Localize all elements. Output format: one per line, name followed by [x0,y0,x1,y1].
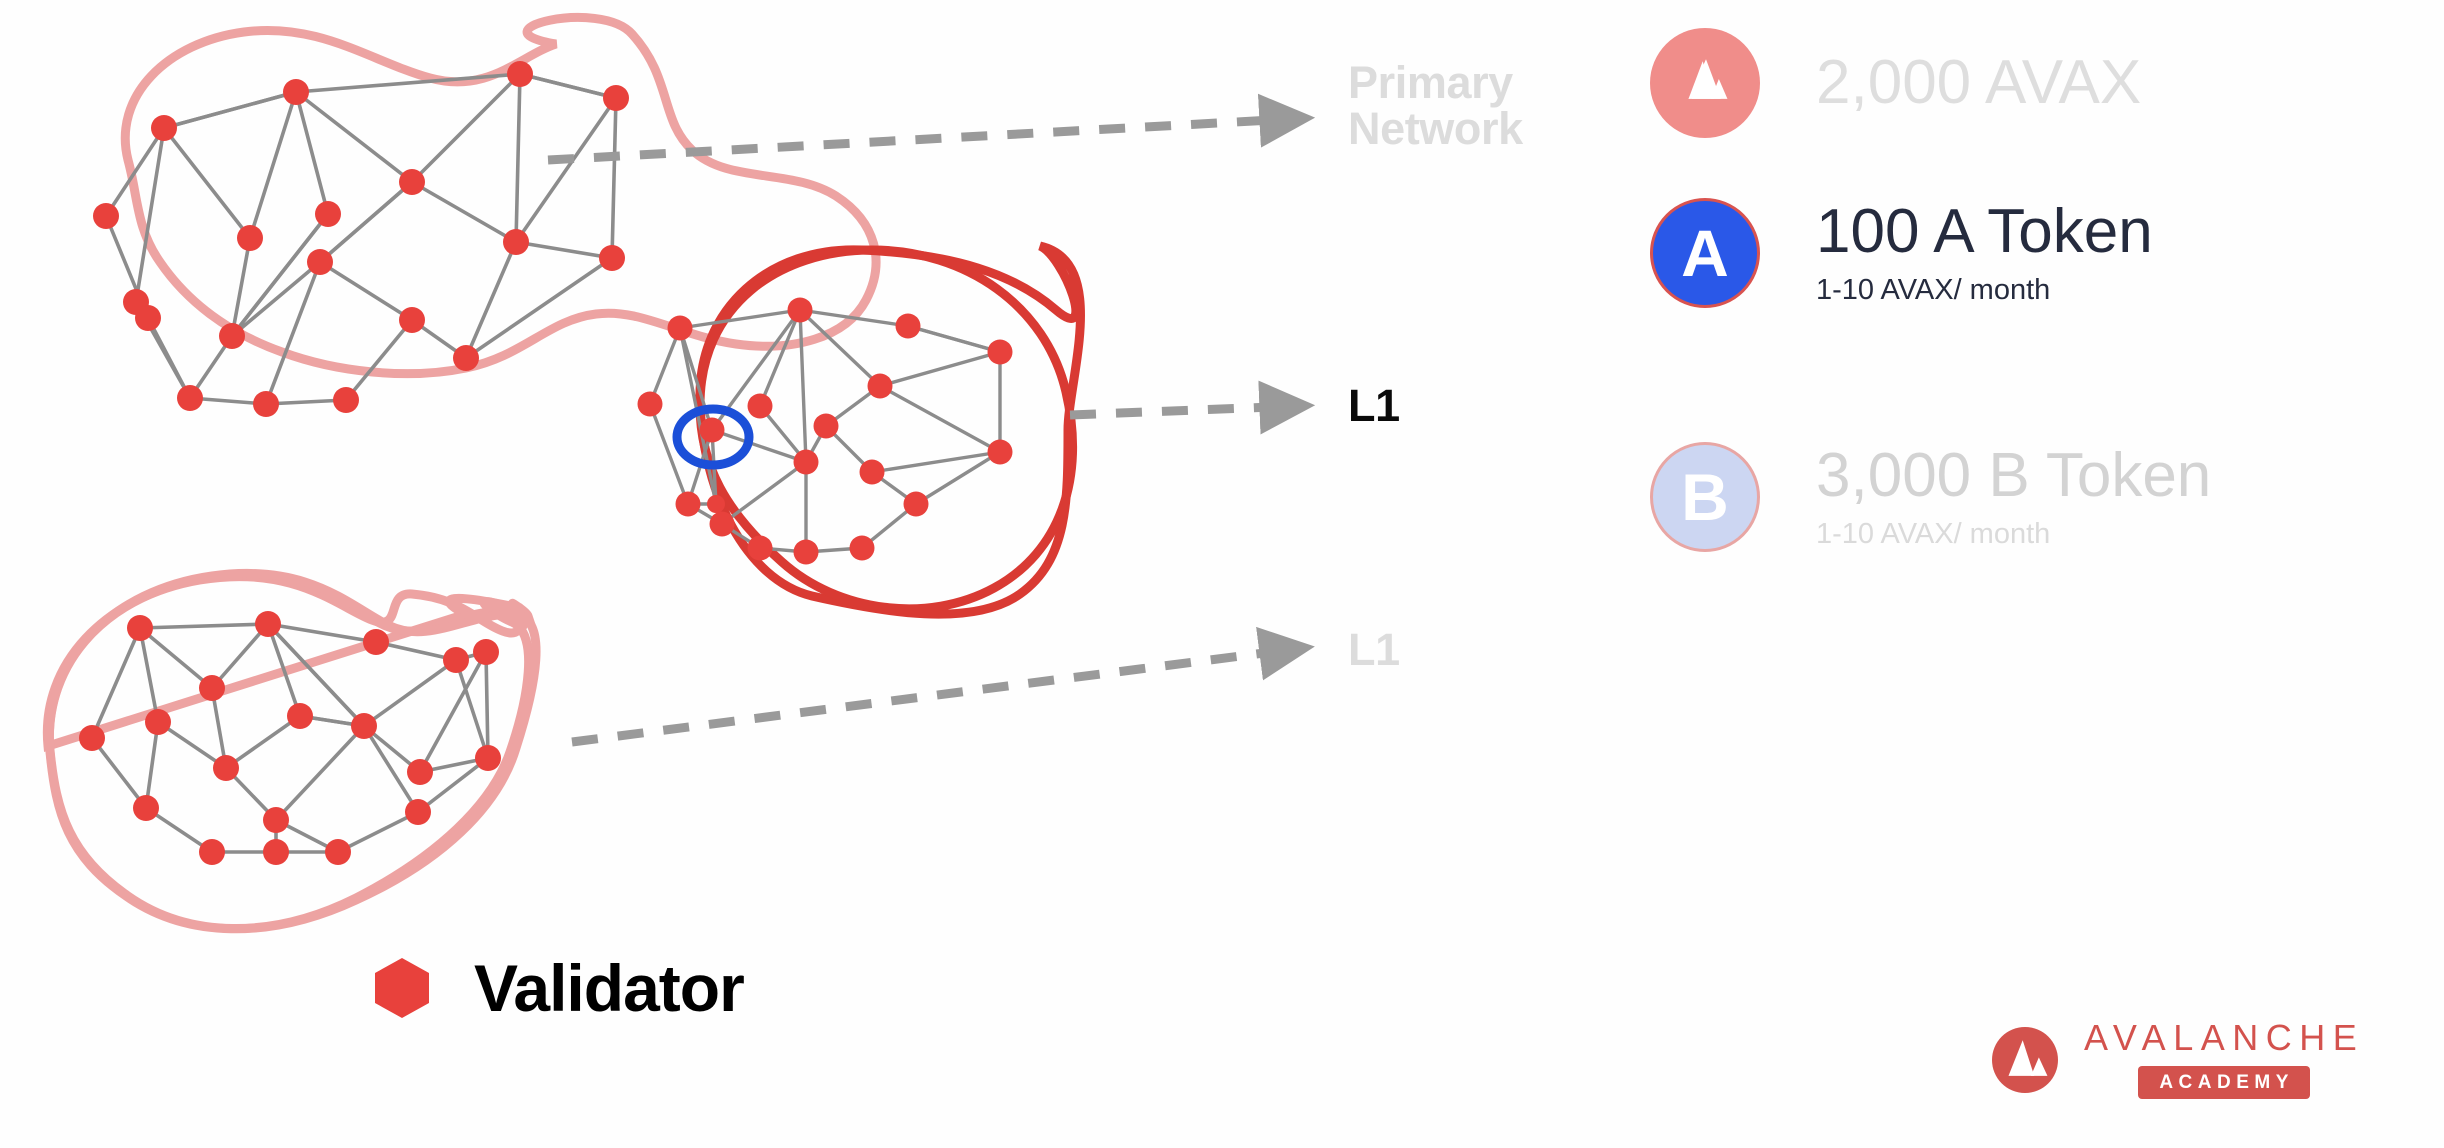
token-amount-b: 3,000 B Token [1816,443,2211,509]
diagram-canvas: Primary Network L1 L1 2,000 AVAX A 100 A… [0,0,2444,1148]
l1-a-cluster [638,246,1081,614]
primary-network-edges [106,74,616,404]
academy-badge: ACADEMY [2138,1066,2310,1099]
avalanche-logo-icon [1992,1027,2058,1093]
arrow-l1-b [572,652,1272,742]
legend-validator-label: Validator [474,955,744,1021]
arrow-l1-a [1070,407,1272,415]
token-text-b: 3,000 B Token 1-10 AVAX/ month [1816,443,2211,551]
avalanche-mountain-icon [1672,50,1738,116]
avalanche-brand-name: AVALANCHE [2084,1020,2364,1056]
avalanche-academy-wordmark: AVALANCHE ACADEMY [2084,1020,2364,1099]
row-token-a: A 100 A Token 1-10 AVAX/ month [1650,198,2153,308]
token-amount-avax: 2,000 AVAX [1816,50,2141,116]
row-token-b: B 3,000 B Token 1-10 AVAX/ month [1650,442,2211,552]
token-fee-a: 1-10 AVAX/ month [1816,275,2153,307]
row-primary-network: 2,000 AVAX [1650,28,2141,138]
avalanche-academy-logo: AVALANCHE ACADEMY [1992,1020,2364,1099]
token-amount-a: 100 A Token [1816,199,2153,265]
network-label-l1-b: L1 [1348,627,1400,673]
legend-validator: Validator [372,955,744,1021]
l1-b-cluster [47,573,536,928]
primary-network-outline [125,17,876,373]
token-b-icon: B [1650,442,1760,552]
token-fee-b: 1-10 AVAX/ month [1816,519,2211,551]
network-label-primary-network: Primary Network [1348,60,1523,152]
primary-network-cluster [93,17,876,417]
network-label-l1-a: L1 [1348,383,1400,429]
token-a-letter: A [1681,220,1729,286]
network-diagram-graphics [0,0,2444,1148]
token-text-a: 100 A Token 1-10 AVAX/ month [1816,199,2153,307]
validator-hexagon-icon [375,958,429,1018]
token-a-icon: A [1650,198,1760,308]
arrow-primary-network [548,120,1272,160]
avalanche-token-icon [1650,28,1760,138]
token-text-primary-network: 2,000 AVAX [1816,50,2141,116]
token-b-letter: B [1681,464,1729,530]
